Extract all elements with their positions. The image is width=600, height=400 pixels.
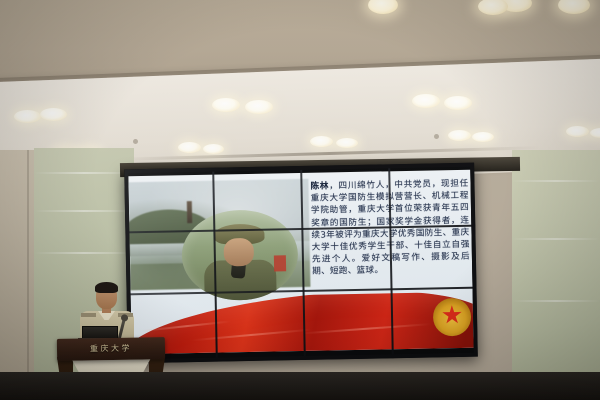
ceiling-downlight-5 (40, 108, 67, 121)
floor-area (0, 372, 600, 400)
ceiling-downlight-14 (310, 136, 333, 147)
sprinkler-head-icon (133, 139, 138, 144)
ceiling-downlight-7 (245, 100, 273, 114)
soldier-face (224, 238, 255, 267)
stone-pillar-left (0, 150, 36, 400)
lecture-hall-photo: 陈林，四川绵竹人，中共党员，现担任重庆大学国防生模拟营营长、机械工程学院助管，重… (0, 0, 600, 400)
ceiling-downlight-15 (336, 138, 358, 148)
soldier-oval-portrait (181, 209, 299, 301)
ceiling-downlight-8 (412, 94, 440, 108)
tower-shape (187, 201, 192, 223)
ceiling-downlight-13 (203, 144, 224, 154)
lcd-video-wall[interactable]: 陈林，四川绵竹人，中共党员，现担任重庆大学国防生模拟营营长、机械工程学院助管，重… (124, 163, 478, 364)
ceiling-downlight-12 (178, 142, 201, 153)
ceiling-downlight-6 (212, 98, 240, 112)
ceiling-downlight-17 (472, 132, 494, 142)
ceiling-downlight-16 (448, 130, 471, 141)
sprinkler-head-icon (434, 134, 439, 139)
glass-wall-panel-right (512, 150, 600, 400)
ceiling-downlight-18 (566, 126, 589, 137)
ceiling-downlight-4 (14, 110, 41, 123)
slide-bio-name: 陈林 (310, 181, 329, 191)
presenter-epaulette-left (81, 313, 96, 317)
pla-star-wreath-icon (433, 298, 472, 337)
lectern-top-band: 重庆大学 (57, 337, 165, 361)
background-red-flag (274, 255, 286, 271)
lectern-inscription: 重庆大学 (57, 342, 165, 355)
presenter-hair (95, 282, 118, 293)
ceiling-downlight-9 (444, 96, 472, 110)
